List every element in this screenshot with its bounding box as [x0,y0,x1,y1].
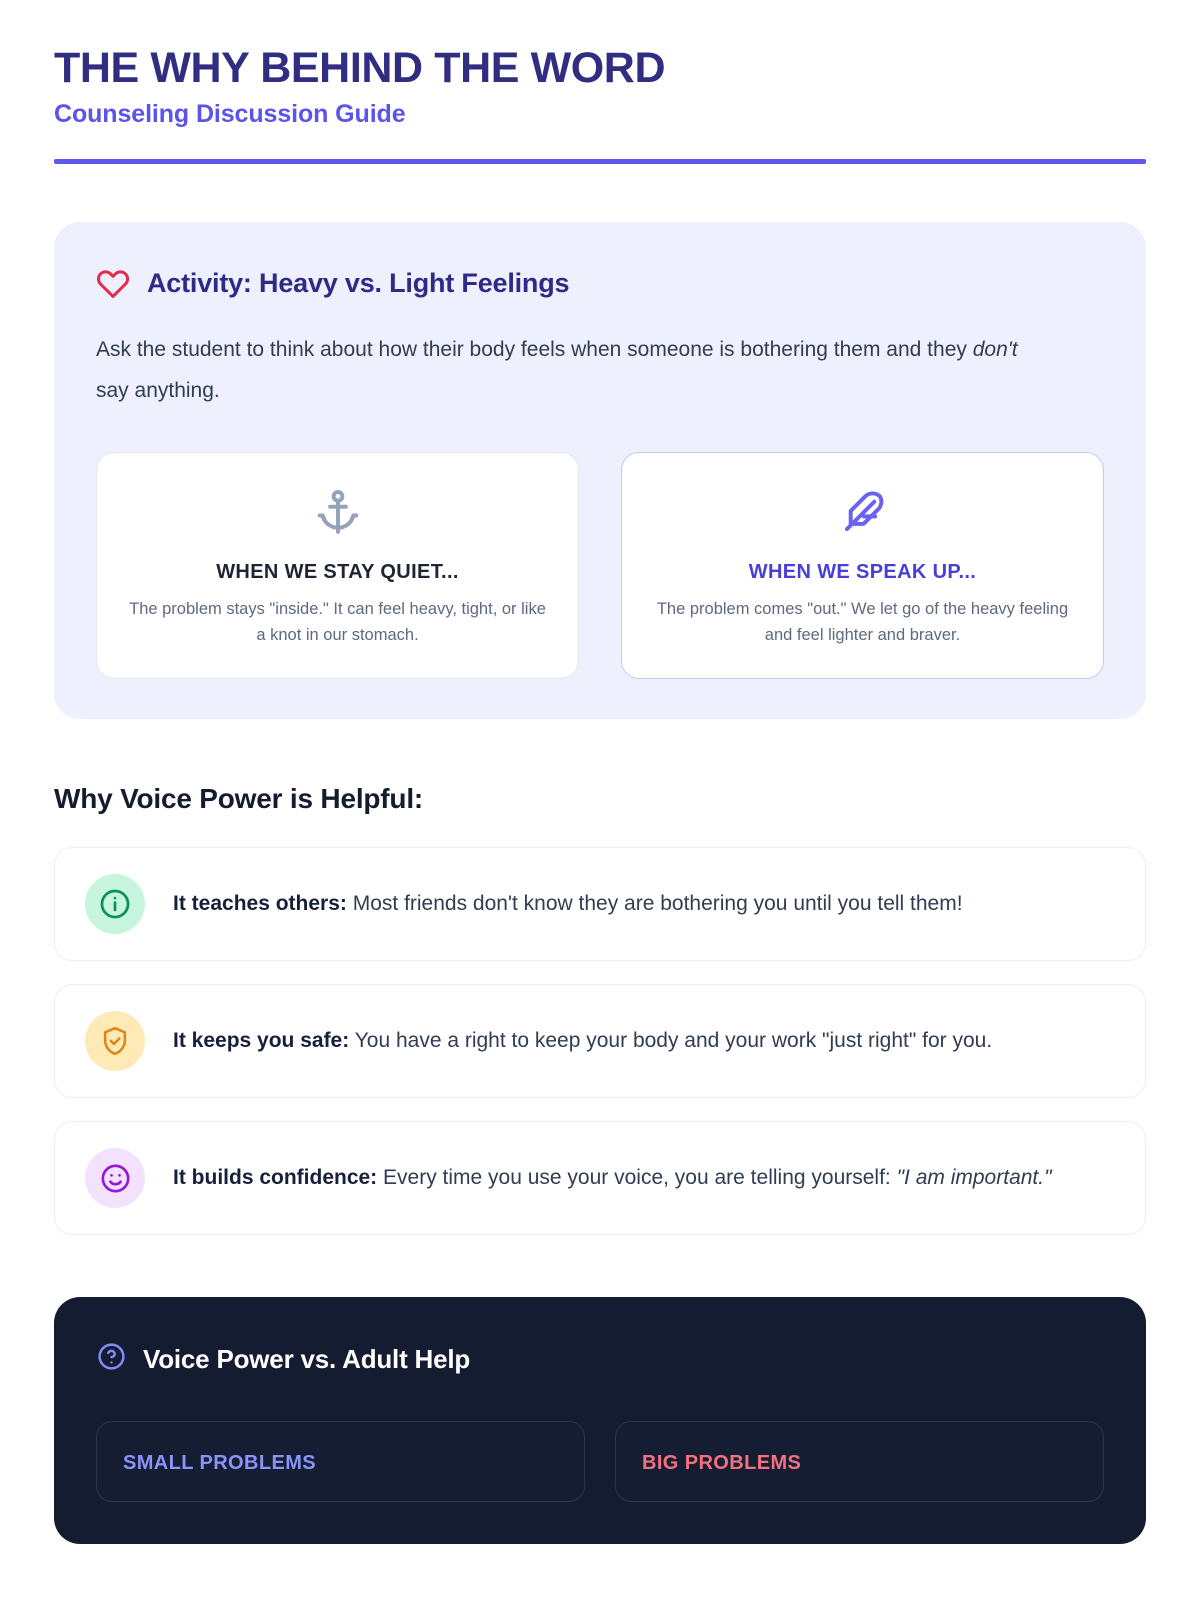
dark-panel-header: Voice Power vs. Adult Help [96,1341,1104,1377]
benefit-body-keeps-you-safe: You have a right to keep your body and y… [349,1029,992,1052]
activity-header: Activity: Heavy vs. Light Feelings [96,266,1104,300]
stay-quiet-card: WHEN WE STAY QUIET... The problem stays … [96,452,579,679]
anchor-icon [123,485,552,541]
benefit-text-keeps-you-safe: It keeps you safe: You have a right to k… [173,1023,992,1059]
benefit-row-teaches-others: It teaches others: Most friends don't kn… [54,847,1146,961]
stay-quiet-body: The problem stays "inside." It can feel … [123,597,552,648]
benefit-label-keeps-you-safe: It keeps you safe: [173,1029,349,1052]
stay-quiet-title: WHEN WE STAY QUIET... [123,561,552,584]
voice-power-vs-adult-help-panel: Voice Power vs. Adult Help SMALL PROBLEM… [54,1297,1146,1544]
benefit-text-builds-confidence: It builds confidence: Every time you use… [173,1160,1052,1196]
activity-heading: Activity: Heavy vs. Light Feelings [147,268,569,299]
activity-description: Ask the student to think about how their… [96,330,1056,412]
benefit-body-builds-confidence: Every time you use your voice, you are t… [377,1166,896,1189]
benefit-label-teaches-others: It teaches others: [173,892,347,915]
speak-up-title: WHEN WE SPEAK UP... [648,561,1077,584]
benefit-row-builds-confidence: It builds confidence: Every time you use… [54,1121,1146,1235]
benefit-label-builds-confidence: It builds confidence: [173,1166,377,1189]
comparison-cards-row: WHEN WE STAY QUIET... The problem stays … [96,452,1104,679]
question-circle-icon [96,1341,127,1377]
benefit-body-teaches-others: Most friends don't know they are botheri… [347,892,963,915]
small-problems-title: SMALL PROBLEMS [123,1452,558,1475]
benefit-emphasis-builds-confidence: "I am important." [897,1166,1052,1189]
speak-up-card: WHEN WE SPEAK UP... The problem comes "o… [621,452,1104,679]
page-subtitle: Counseling Discussion Guide [54,100,1146,129]
activity-description-emphasis: don't [973,338,1018,361]
shield-check-icon [85,1011,145,1071]
document-page: THE WHY BEHIND THE WORD Counseling Discu… [0,0,1200,1600]
big-problems-card: BIG PROBLEMS [615,1421,1104,1502]
benefit-row-keeps-you-safe: It keeps you safe: You have a right to k… [54,984,1146,1098]
activity-description-part2: say anything. [96,379,220,402]
big-problems-title: BIG PROBLEMS [642,1452,1077,1475]
activity-card: Activity: Heavy vs. Light Feelings Ask t… [54,222,1146,719]
activity-description-part1: Ask the student to think about how their… [96,338,973,361]
benefit-text-teaches-others: It teaches others: Most friends don't kn… [173,886,963,922]
page-title: THE WHY BEHIND THE WORD [54,44,1146,92]
benefits-list: It teaches others: Most friends don't kn… [54,847,1146,1235]
smiley-face-icon [85,1148,145,1208]
benefits-section-title: Why Voice Power is Helpful: [54,783,1146,815]
document-header: THE WHY BEHIND THE WORD Counseling Discu… [54,0,1146,164]
dark-panel-heading: Voice Power vs. Adult Help [143,1344,470,1375]
small-problems-card: SMALL PROBLEMS [96,1421,585,1502]
heart-icon [96,266,130,300]
info-circle-icon [85,874,145,934]
feather-icon [648,485,1077,541]
header-divider [54,159,1146,164]
problem-size-cards: SMALL PROBLEMS BIG PROBLEMS [96,1421,1104,1502]
speak-up-body: The problem comes "out." We let go of th… [648,597,1077,648]
